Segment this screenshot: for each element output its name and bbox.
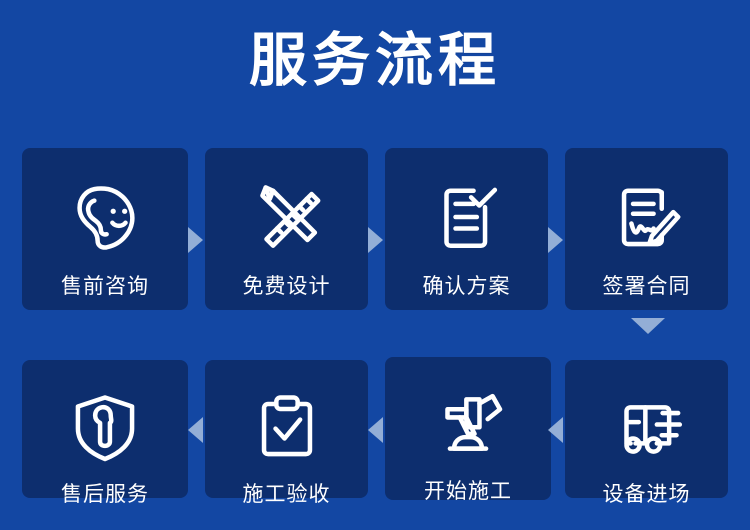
step-card-pre-sale-consultation[interactable]: 售前咨询 xyxy=(22,148,188,310)
contract-signature-pen-icon xyxy=(604,174,690,260)
step-card-construction-acceptance[interactable]: 施工验收 xyxy=(205,360,368,498)
arrow-step2-to-step3-icon xyxy=(368,227,383,253)
pencil-ruler-icon xyxy=(244,174,330,260)
step-card-after-sale-service[interactable]: 售后服务 xyxy=(22,360,188,498)
step-card-label: 开始施工 xyxy=(424,479,512,505)
step-card-start-construction[interactable]: 开始施工 xyxy=(385,357,551,500)
hammer-icon xyxy=(425,383,511,465)
step-card-label: 售后服务 xyxy=(61,482,149,508)
shield-wrench-icon xyxy=(62,386,148,468)
phone-smiley-icon xyxy=(62,174,148,260)
step-card-label: 售前咨询 xyxy=(61,274,149,300)
clipboard-check-icon xyxy=(244,386,330,468)
step-card-label: 确认方案 xyxy=(423,274,511,300)
step-card-label: 签署合同 xyxy=(603,274,691,300)
step-card-label: 施工验收 xyxy=(243,482,331,508)
arrow-step3-to-step4-icon xyxy=(548,227,563,253)
page-title: 服务流程 xyxy=(0,26,750,96)
service-process-diagram: 服务流程 售前咨询 xyxy=(0,0,750,530)
arrow-step6-to-step7-icon xyxy=(368,417,383,443)
document-check-icon xyxy=(424,174,510,260)
step-card-free-design[interactable]: 免费设计 xyxy=(205,148,368,310)
step-card-equipment-entry[interactable]: 设备进场 xyxy=(565,360,728,498)
step-card-sign-contract[interactable]: 签署合同 xyxy=(565,148,728,310)
arrow-step1-to-step2-icon xyxy=(188,227,203,253)
arrow-step4-to-step5-icon xyxy=(631,318,665,334)
step-card-label: 设备进场 xyxy=(603,482,691,508)
arrow-step5-to-step6-icon xyxy=(548,417,563,443)
arrow-step7-to-step8-icon xyxy=(188,417,203,443)
step-card-label: 免费设计 xyxy=(243,274,331,300)
step-card-confirm-plan[interactable]: 确认方案 xyxy=(385,148,548,310)
delivery-truck-icon xyxy=(604,386,690,468)
